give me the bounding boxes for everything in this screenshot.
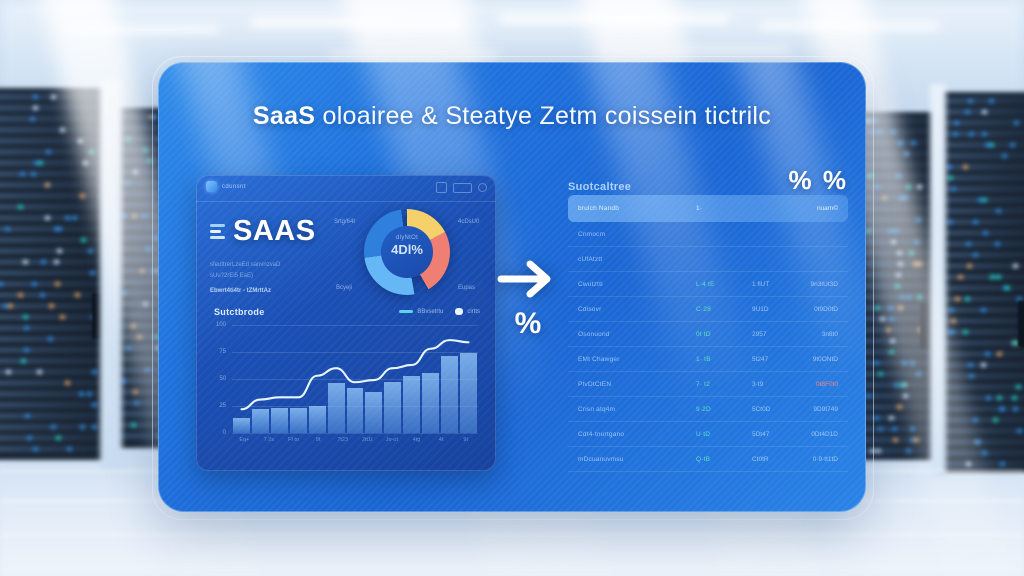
rack-unit: [0, 325, 103, 332]
rack-led: [32, 282, 37, 286]
rack-led: [81, 238, 86, 242]
table-row[interactable]: Osonuond0t tD29573n8t0: [568, 322, 848, 347]
donut-center-label: dlyNtOt: [364, 235, 450, 241]
rack-led: [92, 370, 97, 374]
chart-x-tick-label: 4tg: [413, 437, 421, 443]
rack-led: [948, 220, 953, 224]
rack-unit: [942, 219, 1024, 226]
hero-sub-line-1: sfeuttrerLzeEd sanvnzvaD: [210, 260, 316, 271]
table-cell-metric-1: 9·2D: [696, 406, 752, 413]
rack-led: [56, 436, 61, 440]
dashboard-brand: cdunsnt: [206, 181, 246, 192]
chart-y-tick-label: 50: [206, 376, 226, 382]
rack-led: [1013, 407, 1018, 411]
rack-led: [894, 383, 899, 387]
rack-led: [38, 161, 43, 165]
table-cell-metric-2: 5Dt47: [752, 431, 802, 438]
rack-led: [8, 304, 13, 308]
hero-sub-emphasis: Ebwrt4ti4tr - tZMrttAz: [210, 286, 271, 297]
rack-unit: [0, 292, 103, 299]
rack-led: [80, 425, 85, 429]
rack-led: [24, 326, 29, 330]
table-cell-metric-3: 3n8t0: [802, 331, 838, 338]
rack-led: [985, 352, 990, 356]
rack-led: [1016, 385, 1021, 389]
rack-led: [46, 150, 51, 154]
table-cell-label: brulch Nandb: [578, 205, 696, 212]
rack-led: [878, 372, 883, 376]
rack-unit: [942, 263, 1024, 270]
chart-plot-area: 0255075100Eq+7 2sFf to9t7t232tt1tJo-ut4t…: [232, 325, 478, 433]
chart-y-tick-label: 0: [206, 430, 226, 436]
saas-wordmark: SAAS: [233, 215, 316, 248]
saas-mark-icon: [210, 223, 226, 241]
donut-label-top-left: Srtg/64t: [334, 219, 355, 225]
rack-led: [37, 370, 42, 374]
rack-led: [874, 361, 879, 365]
rack-led: [973, 418, 978, 422]
table-cell-metric-2: 5t247: [752, 356, 802, 363]
rack-led: [80, 194, 85, 198]
chart-x-tick-label: Ff to: [288, 437, 299, 443]
chart-title: Sutctbrode: [214, 307, 265, 317]
table-cell-metric-2: 9U1D: [752, 306, 802, 313]
rack-led: [965, 110, 970, 114]
rack-led: [917, 185, 922, 189]
rack-unit: [0, 358, 103, 365]
rack-led: [955, 297, 960, 301]
rack-led: [949, 308, 954, 312]
table-row[interactable]: Cdt4·tnurtganoU·tD5Dt470Dt4D1D: [568, 422, 848, 447]
rack-led: [51, 425, 56, 429]
rack-led: [993, 418, 998, 422]
table-row[interactable]: cUfAtztt: [568, 247, 848, 272]
rack-led: [953, 132, 958, 136]
legend-label: BBvsetrtu: [417, 309, 443, 315]
rack-handle: [1018, 301, 1024, 347]
rack-led: [33, 106, 38, 110]
legend-label: cirtts: [467, 309, 480, 315]
rack-led: [997, 396, 1002, 400]
rack-led: [65, 216, 70, 220]
grid-icon[interactable]: [436, 182, 447, 193]
table-cell-metric-1: 1· tB: [696, 356, 752, 363]
rack-led: [18, 293, 23, 297]
donut-center: dlyNtOt 4Dl%: [364, 235, 450, 257]
rack-led: [92, 425, 97, 429]
area-chart: Sutctbrode BBvsetrtu cirtts 0255075100Eq…: [206, 307, 486, 459]
rack-led: [87, 392, 92, 396]
rack-led: [968, 99, 973, 103]
rack-led: [963, 165, 968, 169]
table-row[interactable]: CdisovrC·289U1D0t9D0tD: [568, 297, 848, 322]
rack-unit: [0, 281, 103, 288]
rack-led: [958, 275, 963, 279]
rack-unit: [0, 413, 103, 420]
rack-led: [985, 143, 990, 147]
rack-unit: [942, 164, 1024, 171]
table-cell-metric-3: 0t9D0tD: [802, 306, 838, 313]
rack-led: [948, 176, 953, 180]
bell-icon[interactable]: [478, 183, 487, 192]
table-cell-label: Cdisovr: [578, 306, 696, 313]
table-header: Suotcaltree % %: [568, 167, 848, 193]
table-row[interactable]: Crisn atq4m9·2D5Ct0D9D9t749: [568, 397, 848, 422]
rack-led: [6, 370, 11, 374]
page-title: SaaS oloairee & Steatye Zetm coissein ti…: [158, 102, 866, 131]
donut-label-bottom-left: Bcyeji: [336, 285, 352, 291]
rack-led: [1017, 429, 1022, 433]
rack-led: [982, 132, 987, 136]
rack-led: [18, 205, 23, 209]
rack-led: [982, 110, 987, 114]
rack-led: [996, 275, 1001, 279]
table-cell-metric-2: Ct0tR: [752, 456, 802, 463]
table-cell-metric-3: 0t8F0t0: [802, 381, 838, 388]
rack-led: [951, 319, 956, 323]
brand-name: cdunsnt: [222, 184, 246, 190]
rack-led: [40, 293, 45, 297]
rack-led: [1010, 143, 1015, 147]
rack-led: [866, 394, 871, 398]
legend-dot-swatch: [455, 308, 463, 315]
rack-unit: [942, 98, 1024, 105]
table-cell-metric-3: nuam©: [802, 205, 838, 212]
rack-led: [989, 99, 994, 103]
rack-led: [23, 260, 28, 264]
hero-sub-line-2: sUu?2rEi5 EaE): [210, 271, 316, 282]
rack-led: [997, 352, 1002, 356]
chart-line-series: [232, 325, 478, 433]
rack-led: [897, 405, 902, 409]
rack-led: [875, 306, 880, 310]
chart-x-tick-label: 7t23: [337, 437, 348, 443]
rack-led: [892, 427, 897, 431]
table-cell-metric-2: 3·t9: [752, 381, 802, 388]
rack-led: [965, 297, 970, 301]
rack-led: [968, 363, 973, 367]
dashboard-hero: SAAS sfeuttrerLzeEd sanvnzvaD sUu?2rEi5 …: [210, 215, 316, 297]
rack-led: [24, 348, 29, 352]
donut-label-bottom-right: Eupas: [458, 285, 475, 291]
rack-unit: [0, 226, 103, 233]
rack-led: [969, 374, 974, 378]
table-row[interactable]: mDcuanuvmsuQ·tBCt0tR0·9·tt1tD: [568, 447, 848, 472]
rack-unit: [0, 259, 103, 266]
rack-led: [874, 416, 879, 420]
dashboard-preview-panel[interactable]: cdunsnt SAAS sfeuttrerLzeEd sanvnzvaD sU…: [196, 175, 496, 471]
legend-item: cirtts: [455, 308, 480, 315]
rack-led: [51, 95, 56, 99]
rack-unit: [942, 252, 1024, 259]
rack-led: [995, 242, 1000, 246]
rack-led: [88, 249, 93, 253]
table-cell-metric-2: 1 flUT: [752, 281, 802, 288]
dashboard-hero-subtext: sfeuttrerLzeEd sanvnzvaD sUu?2rEi5 EaE) …: [210, 260, 316, 297]
rack-led: [31, 172, 36, 176]
rack-unit: [0, 237, 103, 244]
rack-unit: [0, 446, 103, 453]
rack-led: [55, 282, 60, 286]
rack-led: [969, 132, 974, 136]
rack-led: [25, 414, 30, 418]
rack-led: [30, 117, 35, 121]
table-cell-metric-3: 9n3tUt3D: [802, 281, 838, 288]
rack-led: [1002, 154, 1007, 158]
rack-led: [1000, 462, 1005, 466]
rack-led: [911, 141, 916, 145]
main-glass-card: SaaS oloairee & Steatye Zetm coissein ti…: [158, 62, 866, 512]
rack-led: [92, 403, 97, 407]
chart-x-tick-label: 9t: [463, 437, 468, 443]
rack-led: [990, 275, 995, 279]
chart-x-tick-label: 4t: [439, 437, 444, 443]
rack-led: [1012, 396, 1017, 400]
table-cell-metric-1: 7· t2: [696, 381, 752, 388]
rack-led: [48, 337, 53, 341]
rack-led: [134, 401, 139, 405]
legend-item: BBvsetrtu: [399, 309, 443, 315]
arrow-right-icon: [488, 257, 568, 306]
rack-led: [72, 216, 77, 220]
app-logo-icon: [206, 181, 217, 192]
rack-led: [982, 451, 987, 455]
donut-label-top-right: 4cDsU0: [458, 219, 479, 225]
rack-unit: [0, 204, 103, 211]
rack-led: [60, 128, 65, 132]
rack-led: [966, 242, 971, 246]
table-row[interactable]: Cnmocm: [568, 222, 848, 247]
table-cell-label: EMt Chawger: [578, 356, 696, 363]
rack-unit: [0, 402, 103, 409]
rack-led: [996, 209, 1001, 213]
page-title-bold: SaaS: [253, 102, 315, 130]
table-cell-metric-1: 0t tD: [696, 331, 752, 338]
rack-led: [33, 447, 38, 451]
rack-led: [67, 447, 72, 451]
rack-led: [20, 172, 25, 176]
table-body[interactable]: brulch Nandb1·nuam©CnmocmcUfAtzttCwutztt…: [568, 195, 848, 472]
rack-led: [981, 363, 986, 367]
rack-led: [876, 449, 881, 453]
rack-led: [79, 392, 84, 396]
table-cell-label: cUfAtztt: [578, 256, 696, 263]
rack-led: [133, 390, 138, 394]
table-title: Suotcaltree: [568, 181, 631, 193]
table-row[interactable]: CwutzttiL·4 tE1 flUT9n3tUt3D: [568, 272, 848, 297]
rack-led: [1014, 121, 1019, 125]
rack-led: [986, 396, 991, 400]
chart-x-tick-label: 2tt1t: [362, 437, 373, 443]
rack-led: [21, 359, 26, 363]
rack-unit: [0, 215, 103, 222]
page-title-rest: oloairee & Steatye Zetm coissein tictril…: [323, 102, 772, 130]
table-cell-label: mDcuanuvmsu: [578, 456, 696, 463]
table-cell-metric-2: 5Ct0D: [752, 406, 802, 413]
rack-led: [983, 231, 988, 235]
rack-unit: [942, 241, 1024, 248]
rack-unit: [942, 175, 1024, 182]
rack-led: [45, 216, 50, 220]
table-cell-metric-3: 0Dt4D1D: [802, 431, 838, 438]
rack-unit: [0, 193, 103, 200]
rack-led: [878, 427, 883, 431]
rack-led: [951, 187, 956, 191]
table-cell-metric-1: C·28: [696, 306, 752, 313]
rack-led: [131, 423, 136, 427]
table-cell-metric-3: 0·9·tt1tD: [802, 456, 838, 463]
chart-x-tick-label: 7 2s: [264, 437, 274, 443]
table-cell-metric-1: U·tD: [696, 431, 752, 438]
rack-led: [978, 198, 983, 202]
rack-unit: [942, 208, 1024, 215]
table-cell-label: Cnmocm: [578, 231, 696, 238]
chart-y-tick-label: 75: [206, 349, 226, 355]
rack-led: [906, 449, 911, 453]
rack-led: [41, 260, 46, 264]
table-cell-label: Crisn atq4m: [578, 406, 696, 413]
rack-led: [0, 282, 3, 286]
rack-led: [75, 293, 80, 297]
rack-led: [947, 165, 952, 169]
rack-unit: [0, 380, 103, 387]
table-cell-metric-2: 2957: [752, 331, 802, 338]
rack-led: [976, 440, 981, 444]
rack-led: [65, 381, 70, 385]
card-icon[interactable]: [453, 183, 472, 193]
rack-led: [954, 121, 959, 125]
chart-x-tick-label: 9t: [316, 437, 321, 443]
chart-y-tick-label: 25: [206, 403, 226, 409]
table-cell-label: Osonuond: [578, 331, 696, 338]
rack-unit: [942, 274, 1024, 281]
table-percent-header: % %: [789, 167, 848, 193]
donut-center-value: 4Dl%: [364, 242, 450, 257]
chart-x-tick-label: Eq+: [239, 437, 249, 443]
rack-led: [23, 315, 28, 319]
rack-led: [889, 416, 894, 420]
rack-led: [33, 95, 38, 99]
chart-y-tick-label: 100: [206, 322, 226, 328]
rack-led: [893, 438, 898, 442]
rack-led: [1013, 264, 1018, 268]
metrics-table-panel: Suotcaltree % % brulch Nandb1·nuam©Cnmoc…: [562, 167, 854, 467]
rack-led: [967, 264, 972, 268]
rack-unit: [942, 285, 1024, 292]
rack-unit: [0, 369, 103, 376]
table-row[interactable]: PtvDtCtEN7· t23·t90t8F0t0: [568, 372, 848, 397]
rack-unit: [0, 435, 103, 442]
table-cell-metric-1: 1·: [696, 205, 752, 212]
rack-unit: [942, 153, 1024, 160]
dashboard-toolbar[interactable]: [436, 182, 487, 193]
percent-symbol: %: [488, 307, 568, 341]
rack-led: [49, 304, 54, 308]
rack-led: [45, 183, 50, 187]
legend-line-swatch: [399, 310, 413, 313]
rack-led: [982, 198, 987, 202]
table-cell-label: PtvDtCtEN: [578, 381, 696, 388]
rack-led: [973, 253, 978, 257]
rack-led: [90, 271, 95, 275]
table-row[interactable]: EMt Chawger1· tB5t2479t0ONtD: [568, 347, 848, 372]
table-cell-label: Cdt4·tnurtgano: [578, 431, 696, 438]
rack-led: [54, 260, 59, 264]
chart-legend: BBvsetrtu cirtts: [399, 308, 480, 315]
rack-unit: [0, 314, 103, 321]
table-cell-metric-3: 9t0ONtD: [802, 356, 838, 363]
table-row[interactable]: brulch Nandb1·nuam©: [568, 195, 848, 222]
rack-led: [152, 115, 157, 119]
chart-gridline: [232, 433, 478, 434]
rack-led: [54, 227, 59, 231]
rack-unit: [0, 347, 103, 354]
rack-led: [963, 330, 968, 334]
table-cell-metric-3: 9D9t749: [802, 406, 838, 413]
rack-led: [57, 249, 62, 253]
rack-led: [27, 436, 32, 440]
rack-led: [1005, 286, 1010, 290]
rack-led: [973, 220, 978, 224]
rack-led: [870, 449, 875, 453]
rack-led: [1000, 407, 1005, 411]
rack-led: [5, 227, 10, 231]
table-cell-metric-1: L·4 tE: [696, 281, 752, 288]
rack-led: [981, 308, 986, 312]
table-cell-metric-1: Q·tB: [696, 456, 752, 463]
table-cell-label: Cwutztti: [578, 281, 696, 288]
rack-led: [60, 315, 65, 319]
rack-unit: [0, 270, 103, 277]
chart-x-tick-label: Jo-ut: [386, 437, 398, 443]
